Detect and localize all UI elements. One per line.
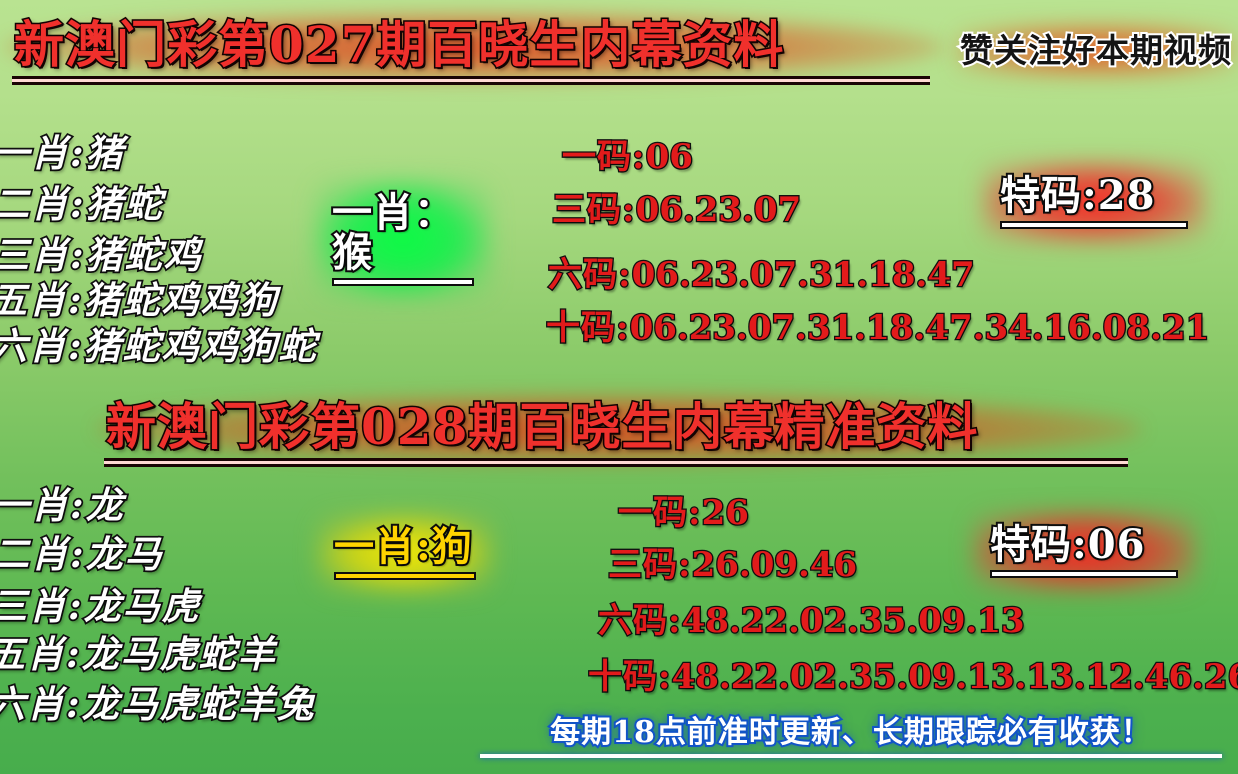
section-2-zodiac-line-3: 三肖:龙马虎 — [0, 588, 201, 625]
section-1-zodiac-line-4: 五肖:猪蛇鸡鸡狗 — [0, 282, 279, 319]
section-2-zodiac-line-5: 六肖:龙马虎蛇羊兔 — [0, 686, 316, 723]
footer-banner: 每期18点前准时更新、长期跟踪必有收获！ — [470, 718, 1232, 758]
section-1-zodiac-line-1: 一肖:猪 — [0, 135, 125, 172]
section-2-code-value-1: 26 — [702, 493, 749, 533]
section-1-code-row-1: 一码:06 — [562, 140, 693, 174]
section-2-special-code-badge-underline — [990, 570, 1178, 578]
section-2-code-label-4: 十码: — [588, 657, 672, 697]
section-1-code-label-3: 六码: — [548, 255, 632, 295]
section-2-zodiac-line-1: 一肖:龙 — [0, 487, 125, 524]
section-1-title-rule — [12, 76, 930, 85]
section-1-code-row-3: 六码:06.23.07.31.18.47 — [548, 258, 975, 292]
section-1-zodiac-line-5: 六肖:猪蛇鸡鸡狗蛇 — [0, 328, 318, 365]
footer-banner-rule — [480, 754, 1222, 758]
section-1-special-code-badge-text: 特码:28 — [1000, 176, 1188, 216]
section-2-code-row-1: 一码:26 — [618, 496, 749, 530]
section-1-code-value-3: 06.23.07.31.18.47 — [632, 255, 975, 295]
promo-text: 赞关注好本期视频 — [960, 34, 1232, 67]
section-2-special-code-badge-text: 特码:06 — [990, 525, 1178, 565]
section-2-zodiac-line-2: 二肖:龙马 — [0, 536, 164, 573]
section-2-special-code-badge[interactable]: 特码:06 — [990, 525, 1178, 578]
section-1-one-zodiac-badge-underline — [332, 278, 474, 286]
section-2-code-label-2: 三码: — [608, 545, 692, 585]
section-1-zodiac-line-2: 二肖:猪蛇 — [0, 186, 164, 223]
section-2-code-row-2: 三码:26.09.46 — [608, 548, 857, 582]
section-1-code-value-4: 06.23.07.31.18.47.34.16.08.21 — [630, 308, 1210, 348]
section-1-title: 新澳门彩第027期百晓生内幕资料 — [14, 20, 784, 70]
section-1-code-value-1: 06 — [646, 137, 693, 177]
section-1-one-zodiac-badge[interactable]: 一肖：猴 — [332, 193, 474, 286]
poster-root: 新澳门彩第027期百晓生内幕资料 赞关注好本期视频 一肖:猪 二肖:猪蛇 三肖:… — [0, 0, 1238, 774]
promo-wrapper: 赞关注好本期视频 — [960, 34, 1232, 67]
section-2-zodiac-line-4: 五肖:龙马虎蛇羊 — [0, 636, 277, 673]
section-2-code-label-1: 一码: — [618, 493, 702, 533]
section-2-code-row-4: 十码:48.22.02.35.09.13.13.12.46.26.03 — [588, 660, 1238, 694]
section-1-code-label-1: 一码: — [562, 137, 646, 177]
section-1-code-label-2: 三码: — [552, 190, 636, 230]
section-2-one-zodiac-badge-underline — [334, 572, 476, 580]
section-1-special-code-badge[interactable]: 特码:28 — [1000, 176, 1188, 229]
section-1-special-code-badge-underline — [1000, 221, 1188, 229]
section-2-title-rule — [104, 458, 1128, 467]
section-1-one-zodiac-badge-text: 一肖：猴 — [332, 193, 474, 273]
section-1-code-row-2: 三码:06.23.07 — [552, 193, 801, 227]
section-2-code-value-3: 48.22.02.35.09.13 — [682, 601, 1025, 641]
section-1-code-row-4: 十码:06.23.07.31.18.47.34.16.08.21 — [546, 311, 1209, 345]
section-2-one-zodiac-badge-text: 一肖:狗 — [334, 527, 476, 567]
section-2-code-label-3: 六码: — [598, 601, 682, 641]
section-2-one-zodiac-badge[interactable]: 一肖:狗 — [334, 527, 476, 580]
section-2-title: 新澳门彩第028期百晓生内幕精准资料 — [106, 402, 978, 452]
section-1-code-value-2: 06.23.07 — [636, 190, 802, 230]
section-2-code-value-2: 26.09.46 — [692, 545, 858, 585]
section-1-zodiac-line-3: 三肖:猪蛇鸡 — [0, 237, 203, 274]
section-1-code-label-4: 十码: — [546, 308, 630, 348]
footer-banner-text: 每期18点前准时更新、长期跟踪必有收获！ — [470, 718, 1232, 748]
section-2-code-row-3: 六码:48.22.02.35.09.13 — [598, 604, 1025, 638]
section-2-code-value-4: 48.22.02.35.09.13.13.12.46.26.03 — [672, 657, 1238, 697]
